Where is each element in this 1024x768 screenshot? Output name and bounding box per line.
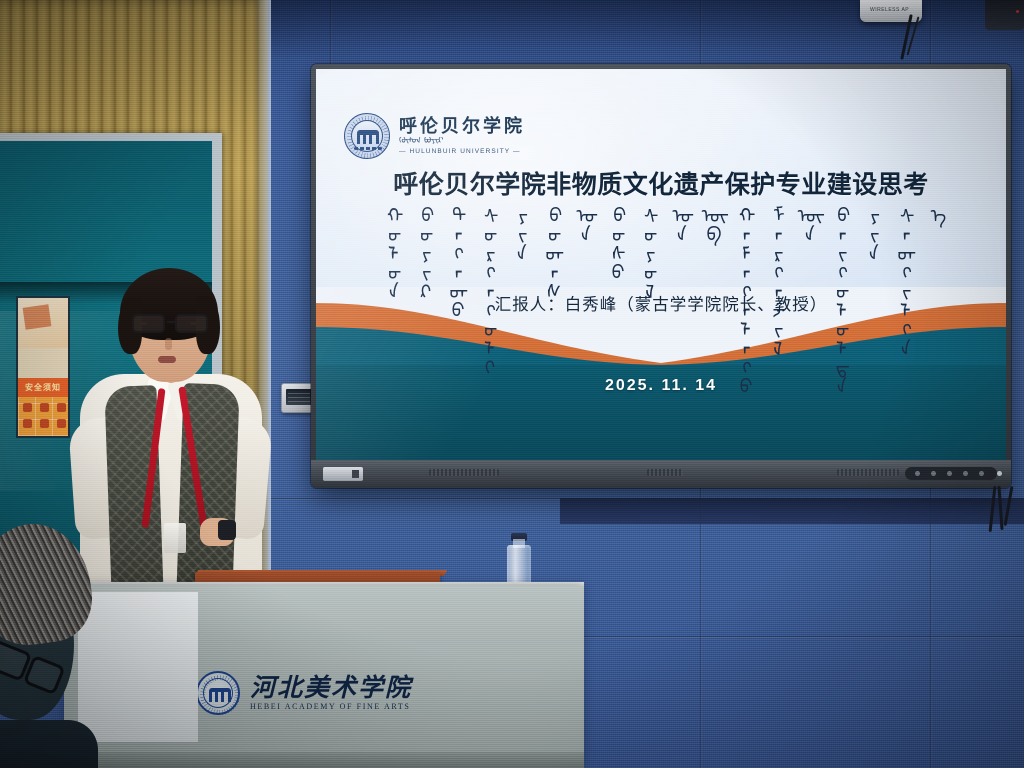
notice-banner: 安全须知 bbox=[18, 378, 68, 397]
university-seal-icon bbox=[344, 113, 390, 159]
presenter-badge bbox=[164, 523, 186, 553]
display-speaker-grille bbox=[429, 469, 499, 476]
slide-presenter-line: 汇报人：白秀峰（蒙古学学院院长、教授） bbox=[316, 291, 1006, 315]
seal-gate-glyph bbox=[357, 130, 379, 144]
academy-seal-icon bbox=[196, 671, 240, 715]
mongolian-word-column: ᠬᠥᠯᠦᠨ bbox=[380, 205, 399, 300]
audience-hair bbox=[0, 517, 98, 651]
mongolian-word-column: ᠥᠪ bbox=[700, 205, 719, 243]
mongolian-word-column: ᠤᠨ bbox=[668, 205, 687, 243]
presenter-mouth bbox=[158, 356, 176, 363]
slide-date: 2025. 11. 14 bbox=[316, 377, 1006, 395]
wall-control-panel[interactable] bbox=[281, 383, 315, 413]
presentation-clicker[interactable] bbox=[218, 520, 236, 540]
mongolian-word-column: ᠰᠡᠳᠬᠢᠯᠭᠡ bbox=[892, 205, 911, 357]
university-name-mn: ᠬᠥᠯᠦᠨ ᠪᠣᠶᠢᠷ bbox=[399, 137, 525, 148]
podium-base bbox=[64, 752, 584, 768]
audience-figure bbox=[0, 524, 108, 768]
water-bottle bbox=[505, 533, 533, 588]
mongolian-word-column: ᠪᠣᠶᠢᠷ bbox=[412, 205, 431, 300]
notice-board: 安全须知 bbox=[16, 296, 70, 438]
presenter-nose bbox=[165, 338, 172, 350]
lecture-hall-scene: 安全须知 WIRELESS AP bbox=[0, 0, 1024, 768]
mongolian-word-column: ᠡ bbox=[924, 205, 943, 224]
mongolian-word-column: ᠦᠨ bbox=[796, 205, 815, 243]
notice-image-top bbox=[18, 298, 68, 348]
display-speaker-grille bbox=[647, 469, 683, 476]
audience-shoulder bbox=[0, 720, 98, 768]
notice-banner-label: 安全须知 bbox=[18, 378, 68, 398]
university-logo-text: 呼伦贝尔学院 ᠬᠥᠯᠦᠨ ᠪᠣᠶᠢᠷ — HULUNBUIR UNIVERSIT… bbox=[399, 117, 525, 155]
podium-logo-text: 河北美术学院 HEBEI ACADEMY OF FINE ARTS bbox=[250, 676, 412, 711]
ceiling-access-point: WIRELESS AP bbox=[860, 0, 922, 22]
mongolian-word-column: ᠮᠡᠷᠭᠡᠵᠢᠯ bbox=[764, 205, 783, 357]
university-name-en: — HULUNBUIR UNIVERSITY — bbox=[399, 149, 525, 156]
display-speaker-grille bbox=[837, 469, 899, 476]
academy-name-cn: 河北美术学院 bbox=[250, 676, 412, 701]
podium-logo: 河北美术学院 HEBEI ACADEMY OF FINE ARTS bbox=[196, 662, 456, 724]
notice-grid bbox=[18, 397, 68, 436]
slide-title: 呼伦贝尔学院非物质文化遗产保护专业建设思考 bbox=[316, 165, 1006, 201]
mongolian-word-column: ᠪᠣᠳᠠᠰ bbox=[540, 205, 559, 300]
mongolian-word-column: ᠶᠢᠨ bbox=[860, 205, 879, 262]
interactive-whiteboard[interactable]: 呼伦贝尔学院 ᠬᠥᠯᠦᠨ ᠪᠣᠶᠢᠷ — HULUNBUIR UNIVERSIT… bbox=[311, 64, 1011, 488]
display-control-bar[interactable] bbox=[905, 467, 997, 480]
wall-panel-screen bbox=[286, 389, 312, 405]
academy-seal-gate-glyph bbox=[209, 688, 231, 702]
presentation-slide: 呼伦贝尔学院 ᠬᠥᠯᠦᠨ ᠪᠣᠶᠢᠷ — HULUNBUIR UNIVERSIT… bbox=[316, 69, 1006, 461]
display-power-led-icon bbox=[997, 471, 1002, 476]
mongolian-word-column: ᠰᠤᠶᠤᠯ bbox=[636, 205, 655, 300]
seal-wave-glyph bbox=[354, 147, 382, 150]
university-logo: 呼伦贝尔学院 ᠬᠥᠯᠦᠨ ᠪᠣᠶᠢᠷ — HULUNBUIR UNIVERSIT… bbox=[344, 105, 674, 167]
wall-band bbox=[560, 498, 1024, 524]
display-bottom-bezel bbox=[311, 460, 1011, 488]
mongolian-word-column: ᠶᠢᠨ bbox=[508, 205, 527, 262]
academy-name-en: HEBEI ACADEMY OF FINE ARTS bbox=[250, 703, 412, 711]
notice-blank bbox=[18, 348, 68, 378]
mongolian-word-column: ᠪᠤᠰᠤ bbox=[604, 205, 623, 281]
mongolian-word-column: ᠤᠨ bbox=[572, 205, 591, 243]
display-side-module[interactable] bbox=[323, 467, 363, 481]
display-cables bbox=[987, 486, 1017, 534]
ceiling-device-label: WIRELESS AP bbox=[870, 7, 909, 13]
presenter-glasses-icon bbox=[130, 314, 210, 334]
display-bezel: 呼伦贝尔学院 ᠬᠥᠯᠦᠨ ᠪᠣᠶᠢᠷ — HULUNBUIR UNIVERSIT… bbox=[316, 69, 1006, 461]
university-name-cn: 呼伦贝尔学院 bbox=[399, 117, 525, 136]
ceiling-device-box bbox=[985, 0, 1024, 30]
